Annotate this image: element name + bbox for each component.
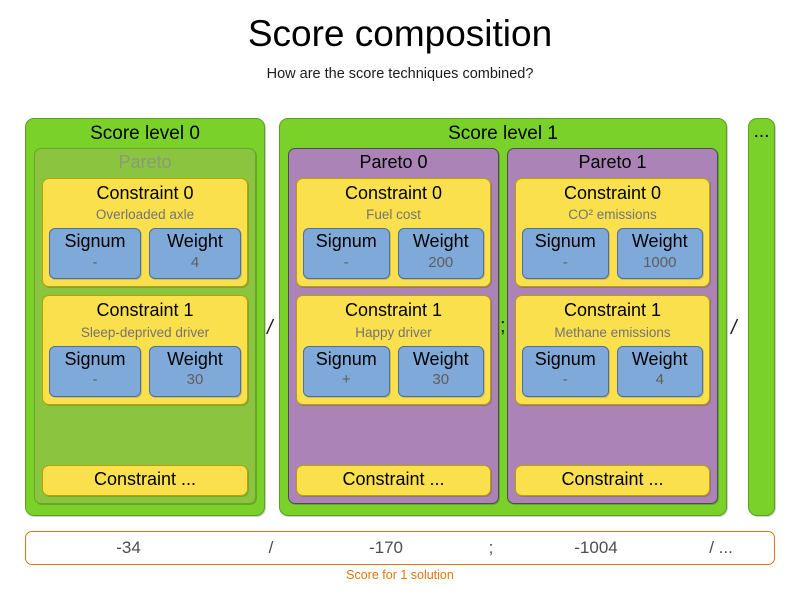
constraint-more[interactable]: Constraint ... [515,465,710,496]
page-subtitle: How are the score techniques combined? [0,66,800,82]
constraint-description: Happy driver [303,325,484,341]
weight-value: 4 [152,253,238,273]
page-title: Score composition [0,14,800,55]
constraint-description: Overloaded axle [49,207,241,223]
constraint-card[interactable]: Constraint 1 Happy driver Signum + Weigh… [296,295,491,405]
weight-label: Weight [152,230,238,253]
constraint-chips: Signum - Weight 30 [49,346,241,397]
score-bar: -34 / -170 ; -1004 / ... [25,531,775,565]
constraint-description: Sleep-deprived driver [49,325,241,341]
constraint-description: Fuel cost [303,207,484,223]
score-level-more-panel[interactable]: ... [748,118,775,516]
score-level0-value: -34 [26,538,231,558]
signum-value: - [525,253,606,273]
score-composition-diagram: Score level 0 Pareto Constraint 0 Overlo… [0,113,800,523]
constraint-title: Constraint 0 [522,183,703,205]
weight-chip[interactable]: Weight 200 [398,228,485,279]
pareto-group-level0-title: Pareto [42,149,248,178]
constraint-card[interactable]: Constraint 0 Overloaded axle Signum - We… [42,178,248,288]
constraint-card[interactable]: Constraint 1 Sleep-deprived driver Signu… [42,295,248,405]
signum-chip[interactable]: Signum - [522,346,609,397]
pareto-group-1[interactable]: Pareto 1 Constraint 0 CO² emissions Sign… [507,148,718,504]
constraint-title: Constraint 1 [522,300,703,322]
score-tail: / ... [671,538,771,558]
weight-label: Weight [620,230,701,253]
weight-value: 4 [620,370,701,390]
pareto-group-1-title: Pareto 1 [515,149,710,178]
pareto-group-0[interactable]: Pareto 0 Constraint 0 Fuel cost Signum -… [288,148,499,504]
score-level-0-title: Score level 0 [26,119,264,148]
constraint-title: Constraint 0 [303,183,484,205]
weight-label: Weight [401,348,482,371]
signum-chip[interactable]: Signum - [49,346,141,397]
constraint-title: Constraint 1 [303,300,484,322]
weight-chip[interactable]: Weight 30 [398,346,485,397]
constraint-card[interactable]: Constraint 0 CO² emissions Signum - Weig… [515,178,710,288]
constraint-chips: Signum - Weight 200 [303,228,484,279]
constraint-chips: Signum - Weight 4 [49,228,241,279]
signum-value: + [306,370,387,390]
constraint-description: CO² emissions [522,207,703,223]
score-level-0-body: Pareto Constraint 0 Overloaded axle Sign… [26,148,264,513]
signum-chip[interactable]: Signum - [49,228,141,279]
signum-chip[interactable]: Signum - [303,228,390,279]
weight-value: 30 [152,370,238,390]
separator-between-levels: / [267,318,273,338]
signum-label: Signum [525,348,606,371]
weight-label: Weight [620,348,701,371]
pareto-group-0-title: Pareto 0 [296,149,491,178]
constraint-title: Constraint 1 [49,300,241,322]
pareto-group-level0[interactable]: Pareto Constraint 0 Overloaded axle Sign… [34,148,256,504]
weight-value: 200 [401,253,482,273]
signum-label: Signum [52,230,138,253]
weight-label: Weight [152,348,238,371]
signum-label: Signum [52,348,138,371]
constraint-description: Methane emissions [522,325,703,341]
signum-label: Signum [306,348,387,371]
score-level-more-title: ... [749,119,774,146]
constraint-more[interactable]: Constraint ... [296,465,491,496]
signum-chip[interactable]: Signum + [303,346,390,397]
score-pareto0-value: -170 [311,538,461,558]
weight-chip[interactable]: Weight 30 [149,346,241,397]
signum-value: - [525,370,606,390]
signum-label: Signum [306,230,387,253]
signum-label: Signum [525,230,606,253]
score-level-0-panel: Score level 0 Pareto Constraint 0 Overlo… [25,118,265,516]
score-operator-2: ; [461,538,521,558]
signum-value: - [306,253,387,273]
constraint-more[interactable]: Constraint ... [42,465,248,496]
constraint-card[interactable]: Constraint 0 Fuel cost Signum - Weight 2… [296,178,491,288]
page-header: Score composition How are the score tech… [0,0,800,82]
weight-chip[interactable]: Weight 1000 [617,228,704,279]
weight-value: 30 [401,370,482,390]
constraint-card[interactable]: Constraint 1 Methane emissions Signum - … [515,295,710,405]
signum-chip[interactable]: Signum - [522,228,609,279]
score-operator-1: / [231,538,311,558]
separator-between-paretos: ; [500,316,506,336]
weight-chip[interactable]: Weight 4 [149,228,241,279]
constraint-chips: Signum + Weight 30 [303,346,484,397]
signum-value: - [52,253,138,273]
signum-value: - [52,370,138,390]
constraint-chips: Signum - Weight 4 [522,346,703,397]
weight-chip[interactable]: Weight 4 [617,346,704,397]
score-caption: Score for 1 solution [0,568,800,582]
score-pareto1-value: -1004 [521,538,671,558]
constraint-chips: Signum - Weight 1000 [522,228,703,279]
separator-after-last-level: / [731,318,737,338]
score-level-1-title: Score level 1 [280,119,726,148]
weight-label: Weight [401,230,482,253]
weight-value: 1000 [620,253,701,273]
constraint-title: Constraint 0 [49,183,241,205]
